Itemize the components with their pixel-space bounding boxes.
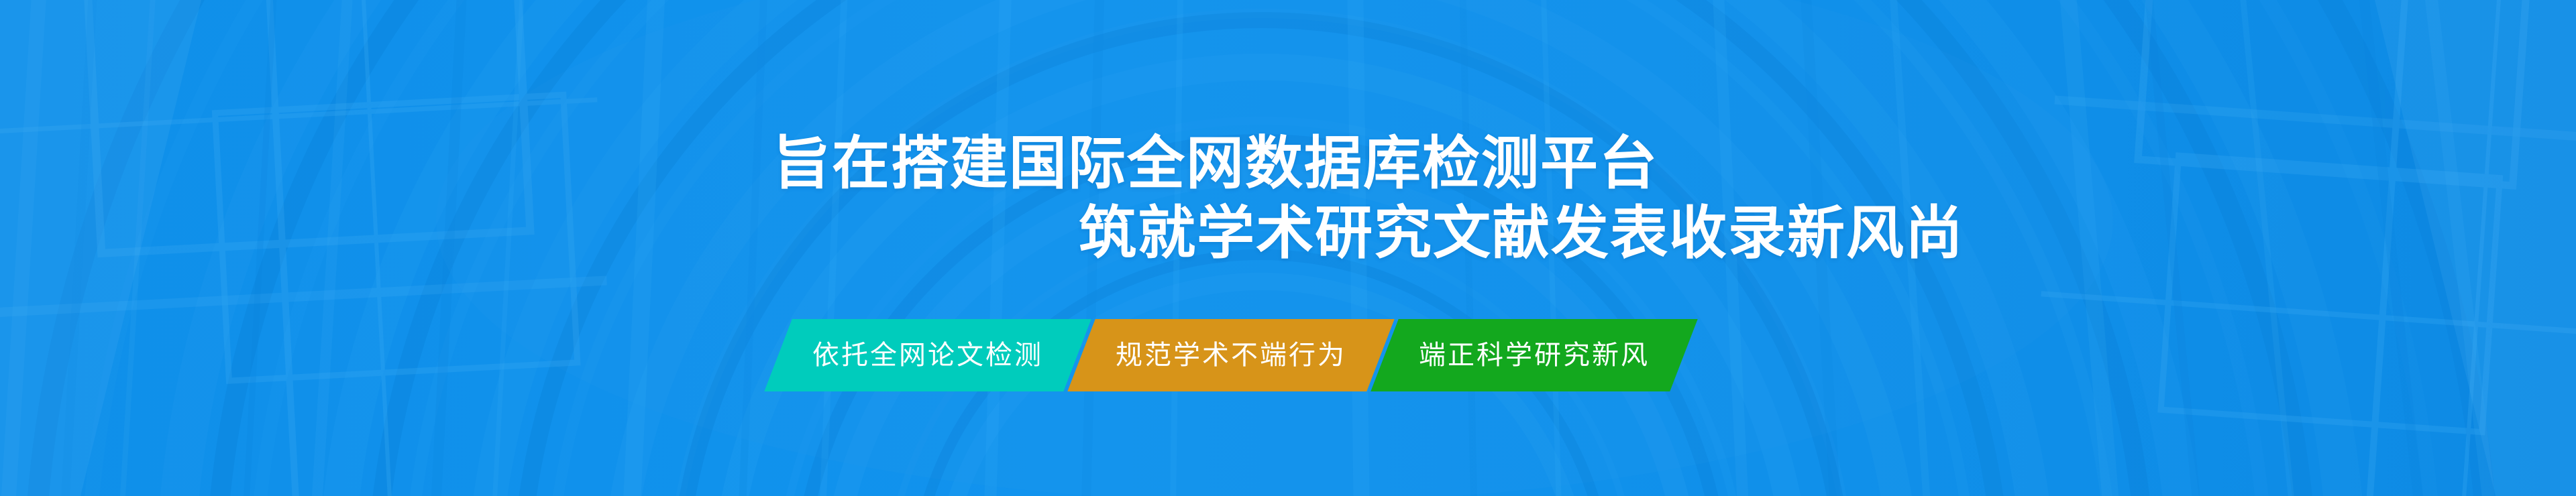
feature-tag-3[interactable]: 端正科学研究新风 [1371,319,1697,391]
feature-tag-3-label: 端正科学研究新风 [1419,342,1650,369]
feature-tag-list: 依托全网论文检测 规范学术不端行为 端正科学研究新风 [778,319,1684,391]
feature-tag-2-label: 规范学术不端行为 [1116,342,1346,369]
headline-line-2: 筑就学术研究文献发表收录新风尚 [1079,204,1964,262]
feature-tag-1[interactable]: 依托全网论文检测 [764,319,1091,391]
feature-tag-1-label: 依托全网论文检测 [812,342,1043,369]
hero-banner: 旨在搭建国际全网数据库检测平台 筑就学术研究文献发表收录新风尚 依托全网论文检测… [0,0,2576,496]
banner-content: 旨在搭建国际全网数据库检测平台 筑就学术研究文献发表收录新风尚 依托全网论文检测… [0,0,2576,496]
headline-line-1: 旨在搭建国际全网数据库检测平台 [773,135,1658,192]
feature-tag-2[interactable]: 规范学术不端行为 [1067,319,1394,391]
